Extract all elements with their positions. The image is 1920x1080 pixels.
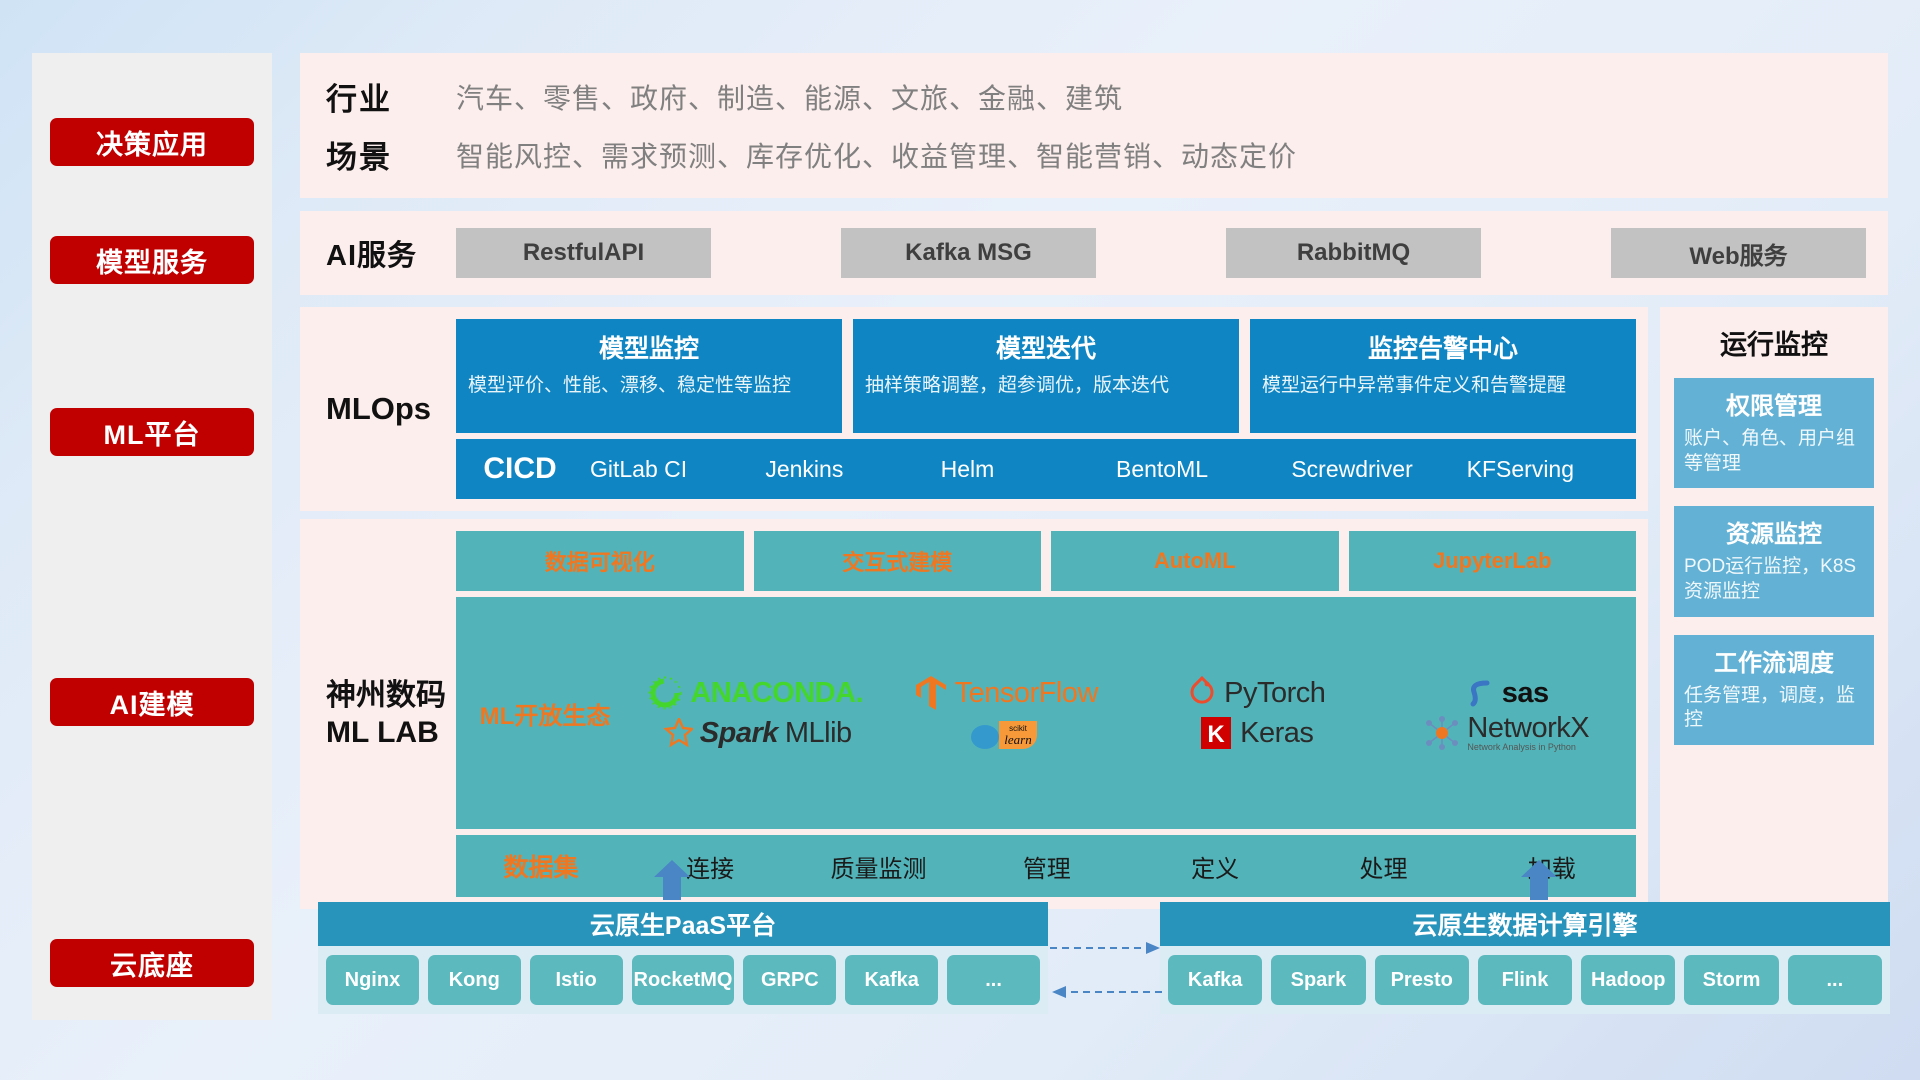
card-desc: 账户、角色、用户组等管理 xyxy=(1684,427,1864,476)
keras-text: Keras xyxy=(1240,717,1313,750)
sas-logo: sas xyxy=(1465,677,1549,710)
anaconda-logo: ANACONDA. xyxy=(647,675,863,711)
cicd-item-jenkins[interactable]: Jenkins xyxy=(759,456,934,482)
card-desc: 抽样策略调整，超参调优，版本迭代 xyxy=(865,373,1227,399)
stage-label: 模型服务 xyxy=(96,241,208,280)
scikit-learn-logo: scikit learn xyxy=(969,713,1043,753)
pytorch-text: PyTorch xyxy=(1224,677,1325,710)
stage-label: AI建模 xyxy=(110,683,195,722)
engine-chip-flink[interactable]: Flink xyxy=(1478,955,1572,1005)
cicd-bar: CICD GitLab CI Jenkins Helm BentoML Scre… xyxy=(456,439,1636,499)
ai-service-label: AI服务 xyxy=(326,232,456,274)
card-desc: 模型评价、性能、漂移、稳定性等监控 xyxy=(468,373,830,399)
svg-text:K: K xyxy=(1207,721,1225,748)
card-title: 权限管理 xyxy=(1684,386,1864,421)
keras-icon: K xyxy=(1199,715,1233,751)
card-title: 模型监控 xyxy=(468,329,830,365)
dataset-title: 数据集 xyxy=(456,848,626,884)
cicd-item-gitlab[interactable]: GitLab CI xyxy=(584,456,759,482)
stage-label: 云底座 xyxy=(110,944,194,983)
ml-lab-label-text: 神州数码ML LAB xyxy=(326,677,446,752)
runtime-monitor-panel: 运行监控 权限管理 账户、角色、用户组等管理 资源监控 POD运行监控，K8S资… xyxy=(1660,307,1888,909)
industry-value: 汽车、零售、政府、制造、能源、文旅、金融、建筑 xyxy=(456,77,1123,117)
service-chip-rabbitmq[interactable]: RabbitMQ xyxy=(1226,228,1481,278)
spark-star-icon xyxy=(659,718,693,748)
mlops-card-model-monitor[interactable]: 模型监控 模型评价、性能、漂移、稳定性等监控 xyxy=(456,319,842,433)
eco-logo-grid: ANACONDA. TensorFlow xyxy=(630,673,1632,753)
tensorflow-text: TensorFlow xyxy=(955,677,1098,710)
mlops-label: MLOps xyxy=(326,319,456,499)
paas-chip-nginx[interactable]: Nginx xyxy=(326,955,419,1005)
keras-logo: K Keras xyxy=(1199,715,1313,751)
decision-apps-band: 行业 汽车、零售、政府、制造、能源、文旅、金融、建筑 场景 智能风控、需求预测、… xyxy=(300,53,1888,198)
scenario-key: 场景 xyxy=(326,132,456,177)
tool-jupyterlab[interactable]: JupyterLab xyxy=(1349,531,1637,591)
paas-chip-row: Nginx Kong Istio RocketMQ GRPC Kafka ... xyxy=(318,946,1048,1014)
tool-interactive-modeling[interactable]: 交互式建模 xyxy=(754,531,1042,591)
ml-lab-band: 神州数码ML LAB 数据可视化 交互式建模 AutoML JupyterLab… xyxy=(300,519,1648,909)
paas-chip-grpc[interactable]: GRPC xyxy=(743,955,836,1005)
pytorch-logo: PyTorch xyxy=(1187,676,1325,710)
card-title: 监控告警中心 xyxy=(1262,329,1624,365)
monitor-title: 运行监控 xyxy=(1674,323,1874,362)
industry-row: 行业 汽车、零售、政府、制造、能源、文旅、金融、建筑 xyxy=(326,68,1888,126)
pytorch-icon xyxy=(1187,676,1217,710)
stage-pill-cloud-base[interactable]: 云底座 xyxy=(50,939,254,987)
card-desc: 任务管理，调度，监控 xyxy=(1684,684,1864,733)
mlops-card-model-iteration[interactable]: 模型迭代 抽样策略调整，超参调优，版本迭代 xyxy=(853,319,1239,433)
dataset-bar: 数据集 连接 质量监测 管理 定义 处理 加载 xyxy=(456,835,1636,897)
dataset-item-define[interactable]: 定义 xyxy=(1131,849,1299,884)
cicd-item-kfserving[interactable]: KFServing xyxy=(1461,456,1636,482)
mlops-band: MLOps 模型监控 模型评价、性能、漂移、稳定性等监控 模型迭代 抽样策略调整… xyxy=(300,307,1648,511)
dataset-item-process[interactable]: 处理 xyxy=(1299,849,1467,884)
stage-label: ML平台 xyxy=(104,413,201,452)
monitor-card-permission[interactable]: 权限管理 账户、角色、用户组等管理 xyxy=(1674,378,1874,488)
scenario-row: 场景 智能风控、需求预测、库存优化、收益管理、智能营销、动态定价 xyxy=(326,126,1888,184)
anaconda-text: ANACONDA. xyxy=(690,677,863,710)
ml-lab-label: 神州数码ML LAB xyxy=(326,531,456,897)
monitor-card-workflow[interactable]: 工作流调度 任务管理，调度，监控 xyxy=(1674,635,1874,745)
svg-text:learn: learn xyxy=(1004,732,1031,747)
networkx-icon xyxy=(1424,716,1460,750)
cicd-title: CICD xyxy=(456,452,584,486)
paas-chip-istio[interactable]: Istio xyxy=(530,955,623,1005)
cloud-paas-block: 云原生PaaS平台 Nginx Kong Istio RocketMQ GRPC… xyxy=(318,902,1048,1014)
tool-automl[interactable]: AutoML xyxy=(1051,531,1339,591)
cicd-item-bentoml[interactable]: BentoML xyxy=(1110,456,1285,482)
sas-icon xyxy=(1465,677,1495,709)
card-title: 资源监控 xyxy=(1684,514,1864,549)
networkx-tagline: Network Analysis in Python xyxy=(1467,743,1589,752)
paas-title: 云原生PaaS平台 xyxy=(318,902,1048,946)
cicd-item-screwdriver[interactable]: Screwdriver xyxy=(1285,456,1460,482)
tensorflow-logo: TensorFlow xyxy=(914,674,1098,712)
mllib-text: MLlib xyxy=(785,717,852,750)
engine-chip-storm[interactable]: Storm xyxy=(1684,955,1778,1005)
monitor-card-resource[interactable]: 资源监控 POD运行监控，K8S资源监控 xyxy=(1674,506,1874,616)
engine-chip-presto[interactable]: Presto xyxy=(1375,955,1469,1005)
service-chip-web[interactable]: Web服务 xyxy=(1611,228,1866,278)
spark-mllib-logo: Spark MLlib xyxy=(659,717,852,750)
service-chip-kafka[interactable]: Kafka MSG xyxy=(841,228,1096,278)
anaconda-icon xyxy=(647,675,683,711)
stage-pill-decision[interactable]: 决策应用 xyxy=(50,118,254,166)
engine-chip-more[interactable]: ... xyxy=(1788,955,1882,1005)
tensorflow-icon xyxy=(914,674,948,712)
networkx-logo: NetworkX Network Analysis in Python xyxy=(1424,714,1589,752)
tool-data-visualization[interactable]: 数据可视化 xyxy=(456,531,744,591)
cloud-link-arrows xyxy=(1050,930,1162,1020)
mlops-card-list: 模型监控 模型评价、性能、漂移、稳定性等监控 模型迭代 抽样策略调整，超参调优，… xyxy=(456,319,1636,433)
up-arrow-paas-icon xyxy=(650,860,694,900)
dataset-item-quality[interactable]: 质量监测 xyxy=(794,849,962,884)
card-desc: 模型运行中异常事件定义和告警提醒 xyxy=(1262,373,1624,399)
service-chip-restful[interactable]: RestfulAPI xyxy=(456,228,711,278)
scikit-learn-icon: scikit learn xyxy=(969,713,1043,753)
stage-pill-model-service[interactable]: 模型服务 xyxy=(50,236,254,284)
engine-chip-row: Kafka Spark Presto Flink Hadoop Storm ..… xyxy=(1160,946,1890,1014)
ai-service-band: AI服务 RestfulAPI Kafka MSG RabbitMQ Web服务 xyxy=(300,211,1888,295)
ml-open-ecosystem: ML开放生态 ANACONDA. xyxy=(456,597,1636,829)
paas-chip-rocketmq[interactable]: RocketMQ xyxy=(632,955,735,1005)
stage-label: 决策应用 xyxy=(96,123,208,162)
paas-chip-more[interactable]: ... xyxy=(947,955,1040,1005)
up-arrow-engine-icon xyxy=(1517,860,1561,900)
spark-text: Spark xyxy=(700,717,778,750)
card-title: 工作流调度 xyxy=(1684,643,1864,678)
engine-chip-hadoop[interactable]: Hadoop xyxy=(1581,955,1675,1005)
cloud-engine-block: 云原生数据计算引擎 Kafka Spark Presto Flink Hadoo… xyxy=(1160,902,1890,1014)
dataset-item-manage[interactable]: 管理 xyxy=(963,849,1131,884)
engine-chip-kafka[interactable]: Kafka xyxy=(1168,955,1262,1005)
networkx-text: NetworkX xyxy=(1467,714,1589,743)
stage-rail: 决策应用 模型服务 ML平台 AI建模 云底座 xyxy=(32,53,272,1020)
ml-lab-tools: 数据可视化 交互式建模 AutoML JupyterLab xyxy=(456,531,1636,591)
eco-label: ML开放生态 xyxy=(460,696,630,731)
mlops-card-alert-center[interactable]: 监控告警中心 模型运行中异常事件定义和告警提醒 xyxy=(1250,319,1636,433)
paas-chip-kong[interactable]: Kong xyxy=(428,955,521,1005)
ai-service-chips: RestfulAPI Kafka MSG RabbitMQ Web服务 xyxy=(456,228,1888,278)
card-desc: POD运行监控，K8S资源监控 xyxy=(1684,555,1864,604)
engine-title: 云原生数据计算引擎 xyxy=(1160,902,1890,946)
industry-key: 行业 xyxy=(326,74,456,119)
engine-chip-spark[interactable]: Spark xyxy=(1271,955,1365,1005)
scenario-value: 智能风控、需求预测、库存优化、收益管理、智能营销、动态定价 xyxy=(456,135,1297,175)
cicd-item-helm[interactable]: Helm xyxy=(935,456,1110,482)
stage-pill-ml-platform[interactable]: ML平台 xyxy=(50,408,254,456)
paas-chip-kafka[interactable]: Kafka xyxy=(845,955,938,1005)
stage-pill-ai-modeling[interactable]: AI建模 xyxy=(50,678,254,726)
card-title: 模型迭代 xyxy=(865,329,1227,365)
sas-text: sas xyxy=(1502,677,1549,710)
